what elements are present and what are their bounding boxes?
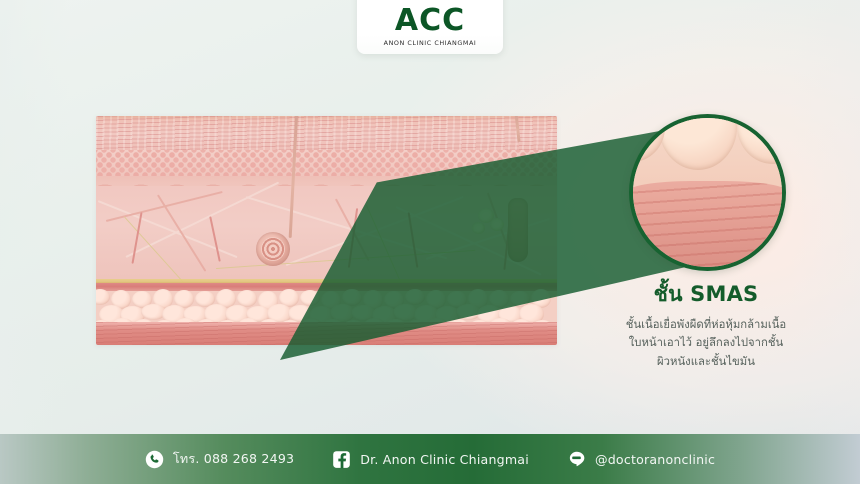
info-line-2: ใบหน้าเอาไว้ อยู่ลึกลงไปจากชั้น — [575, 334, 837, 352]
collagen-strand-group — [96, 186, 557, 284]
fat-cell — [405, 289, 425, 305]
footer-item-facebook[interactable]: Dr. Anon Clinic Chiangmai — [332, 450, 529, 469]
right-edge-vignette — [790, 0, 860, 484]
line-icon — [567, 450, 586, 469]
facebook-icon — [332, 450, 351, 469]
info-block: ชั้น SMAS ชั้นเนื้อเยื่อพังผืดที่ห่อหุ้ม… — [575, 282, 837, 371]
footer-phone-label: โทร. 088 268 2493 — [173, 449, 294, 469]
infographic-canvas: ACC ANON CLINIC CHIANGMAI — [0, 0, 860, 484]
info-line-3: ผิวหนังและชั้นไขมัน — [575, 353, 837, 371]
footer-item-phone[interactable]: โทร. 088 268 2493 — [145, 449, 294, 469]
footer-line-label: @doctoranonclinic — [595, 452, 715, 467]
footer-item-line[interactable]: @doctoranonclinic — [567, 450, 715, 469]
page-title: ชั้น SMAS — [575, 282, 837, 306]
epidermis-stratum-corneum-layer — [96, 116, 557, 150]
footer-facebook-label: Dr. Anon Clinic Chiangmai — [360, 452, 529, 467]
footer-contact-bar: โทร. 088 268 2493 Dr. Anon Clinic Chiang… — [0, 434, 860, 484]
sweat-gland-coil — [256, 232, 290, 266]
sebaceous-gland-lobule — [490, 218, 504, 231]
logo-brand-text: ACC — [395, 6, 465, 36]
hair-follicle — [508, 198, 528, 262]
magnified-smas-fibers — [629, 181, 786, 271]
phone-icon — [145, 450, 164, 469]
smas-magnified-circle — [629, 114, 786, 271]
muscle-layer — [96, 322, 557, 345]
info-line-1: ชั้นเนื้อเยื่อพังผืดที่ห่อหุ้มกล้ามเนื้อ — [575, 316, 837, 334]
fat-cell — [300, 290, 320, 306]
logo-subtitle-text: ANON CLINIC CHIANGMAI — [384, 39, 477, 47]
left-edge-vignette — [0, 0, 70, 484]
info-description: ชั้นเนื้อเยื่อพังผืดที่ห่อหุ้มกล้ามเนื้อ… — [575, 316, 837, 371]
fat-cell — [96, 289, 110, 305]
skin-cross-section-illustration — [96, 116, 557, 345]
sebaceous-gland-lobule — [472, 222, 485, 234]
dermis-layer — [96, 186, 557, 284]
magnified-fat-region — [633, 118, 782, 187]
logo-panel: ACC ANON CLINIC CHIANGMAI — [357, 0, 503, 54]
